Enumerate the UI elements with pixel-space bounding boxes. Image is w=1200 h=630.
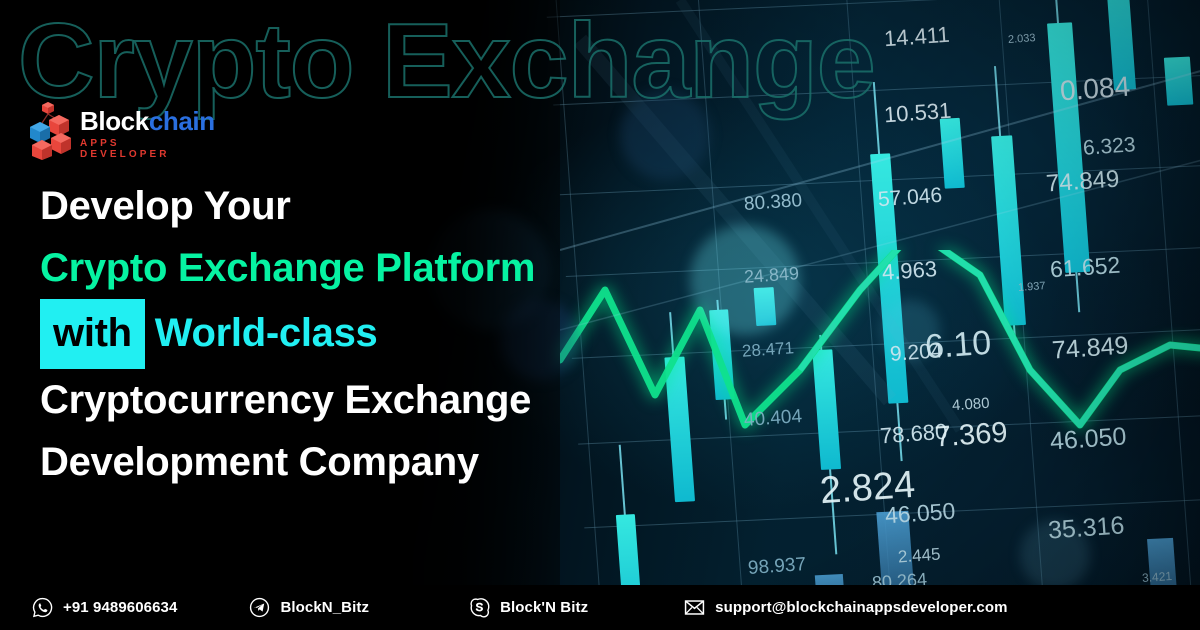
headline-with-chip: with [40, 299, 145, 369]
logo-tagline: APPS DEVELOPER [80, 138, 215, 160]
logo-text: Blockchain APPS DEVELOPER [80, 108, 215, 160]
footer-label-skype: Block'N Bitz [500, 599, 588, 616]
headline-line-1: Develop Your [40, 175, 700, 237]
watermark-title: Crypto Exchange [18, 8, 875, 114]
logo-wordmark: Blockchain [80, 108, 215, 134]
footer-item-telegram[interactable]: BlockN_Bitz [249, 597, 369, 618]
contact-footer: +91 9489606634 BlockN_Bitz Block'N Bitz … [0, 585, 1200, 630]
headline-worldclass: World-class [155, 311, 378, 355]
footer-item-skype[interactable]: Block'N Bitz [469, 597, 588, 618]
logo-word-block: Block [80, 106, 149, 136]
footer-label-telegram: BlockN_Bitz [280, 599, 369, 616]
blockchain-cubes-icon [28, 100, 76, 160]
headline-line-4: Cryptocurrency Exchange [40, 369, 700, 431]
email-icon [684, 597, 705, 618]
footer-label-email: support@blockchainappsdeveloper.com [715, 599, 1007, 616]
logo-word-chain: chain [149, 106, 215, 136]
crypto-exchange-banner: 14.4112.0330.08410.5316.32374.84957.0468… [0, 0, 1200, 630]
footer-item-email[interactable]: support@blockchainappsdeveloper.com [684, 597, 1007, 618]
headline-line-5: Development Company [40, 431, 700, 493]
skype-icon [469, 597, 490, 618]
telegram-icon [249, 597, 270, 618]
headline-block: Develop Your Crypto Exchange Platform wi… [40, 175, 700, 493]
whatsapp-icon [32, 597, 53, 618]
brand-logo[interactable]: Blockchain APPS DEVELOPER [28, 100, 208, 162]
headline-line-3: withWorld-class [40, 299, 700, 369]
footer-item-whatsapp[interactable]: +91 9489606634 [32, 597, 177, 618]
footer-label-whatsapp: +91 9489606634 [63, 599, 177, 616]
headline-line-2: Crypto Exchange Platform [40, 237, 700, 299]
